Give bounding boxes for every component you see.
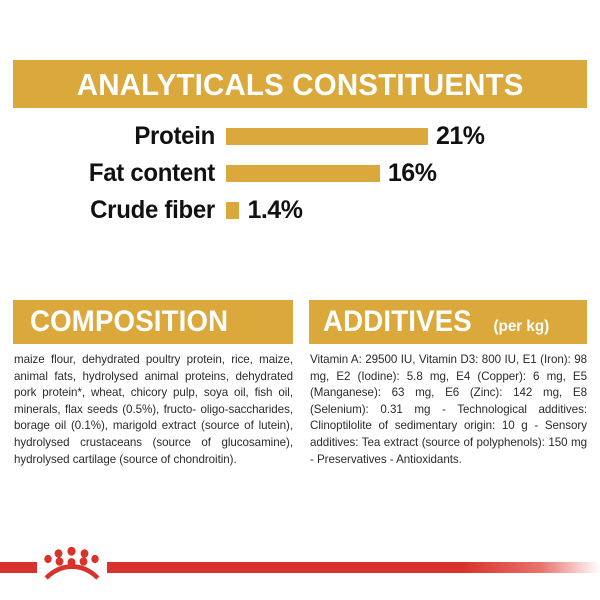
analyticals-constituents-title: ANALYTICALS CONSTITUENTS: [77, 69, 524, 100]
additives-header: ADDITIVES (per kg): [309, 300, 587, 344]
bar-value-protein: 21%: [436, 124, 485, 149]
additives-subtitle: (per kg): [493, 305, 549, 344]
table-row: Fat content 16%: [0, 155, 600, 192]
bar-fill-protein: [226, 128, 428, 145]
footer-rule-right: [107, 562, 600, 573]
bar-label-fat-content: Fat content: [9, 161, 215, 186]
bar-label-crude-fiber: Crude fiber: [9, 198, 215, 223]
bar-label-protein: Protein: [9, 124, 215, 149]
nutrition-info-panel: ANALYTICALS CONSTITUENTS Protein 21% Fat…: [0, 0, 600, 600]
analytical-constituents-chart: Protein 21% Fat content 16% Crude fiber …: [0, 118, 600, 229]
table-row: Protein 21%: [0, 118, 600, 155]
bar-value-fat-content: 16%: [388, 161, 437, 186]
crown-icon: [41, 546, 103, 582]
analyticals-constituents-header: ANALYTICALS CONSTITUENTS: [13, 60, 587, 108]
bar-track-fat-content: 16%: [215, 161, 600, 186]
footer-rule-left: [0, 562, 37, 573]
table-row: Crude fiber 1.4%: [0, 192, 600, 229]
bar-track-protein: 21%: [215, 124, 600, 149]
composition-text: maize flour, dehydrated poultry protein,…: [14, 352, 293, 468]
additives-title: ADDITIVES: [323, 300, 472, 344]
bar-value-crude-fiber: 1.4%: [247, 198, 302, 223]
bar-fill-fat-content: [226, 165, 380, 182]
composition-title: COMPOSITION: [30, 307, 228, 337]
bar-fill-crude-fiber: [226, 202, 239, 219]
composition-header: COMPOSITION: [13, 300, 293, 344]
additives-text: Vitamin A: 29500 IU, Vitamin D3: 800 IU,…: [310, 352, 587, 468]
bar-track-crude-fiber: 1.4%: [215, 198, 600, 223]
